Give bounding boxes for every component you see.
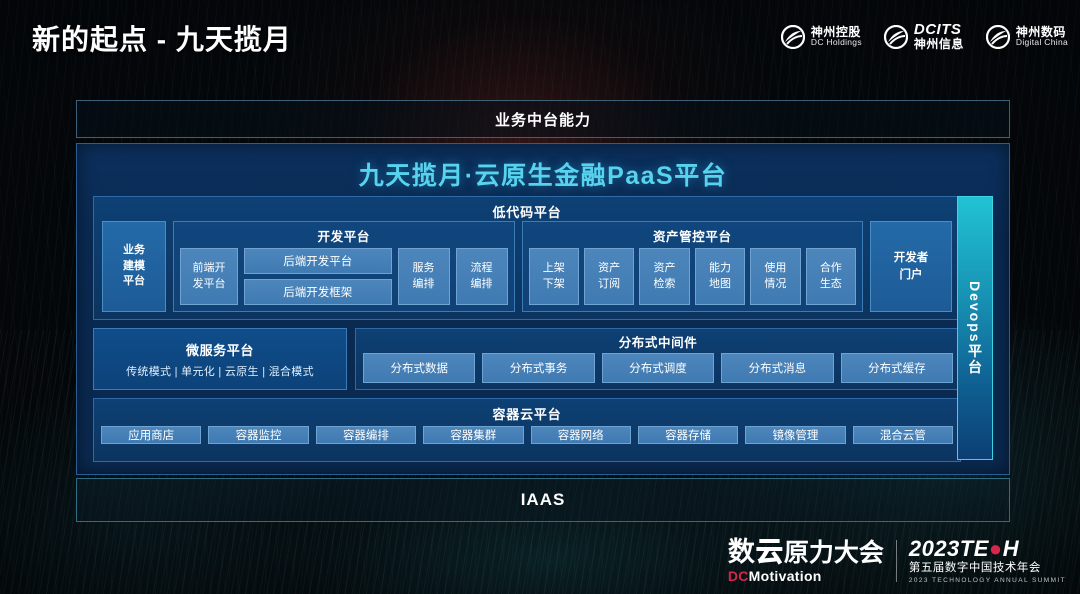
middleware-item-scheduling[interactable]: 分布式调度 <box>602 353 714 383</box>
container-item-monitoring[interactable]: 容器监控 <box>208 426 308 444</box>
event-logo: 数 云 原力大会 DCMotivation 2023TE●H 第五届数字中国技术… <box>728 538 1066 584</box>
dev-platform-header: 开发平台 <box>174 222 514 248</box>
container-item-storage[interactable]: 容器存储 <box>638 426 738 444</box>
backend-dev-platform-box[interactable]: 后端开发平台 <box>244 248 392 274</box>
microservice-middleware-row: 微服务平台 传统模式 | 单元化 | 云原生 | 混合模式 分布式中间件 分布式… <box>93 328 961 390</box>
middleware-item-data[interactable]: 分布式数据 <box>363 353 475 383</box>
platform-layer-stack: 低代码平台 业务建模平台 开发平台 前端开发平台 后端开发平台 后端开发框架 服… <box>93 196 961 470</box>
swoosh-icon <box>884 25 908 49</box>
event-brand: 数 云 原力大会 DCMotivation <box>728 539 884 583</box>
middleware-header: 分布式中间件 <box>356 329 960 353</box>
container-item-orchestration[interactable]: 容器编排 <box>316 426 416 444</box>
middleware-item-transaction[interactable]: 分布式事务 <box>482 353 594 383</box>
asset-platform-group: 资产管控平台 上架下架 资产订阅 资产检索 能力地图 使用情况 合作生态 <box>522 221 864 312</box>
digital-china-logo: 神州数码 Digital China <box>986 25 1068 49</box>
container-item-hybrid-cloud[interactable]: 混合云管 <box>853 426 953 444</box>
event-year: 2023 <box>909 536 960 561</box>
business-modeling-platform-box[interactable]: 业务建模平台 <box>102 221 166 312</box>
event-logo-divider <box>896 540 897 582</box>
dev-platform-group: 开发平台 前端开发平台 后端开发平台 后端开发框架 服务编排 流程编排 <box>173 221 515 312</box>
container-item-image-management[interactable]: 镜像管理 <box>745 426 845 444</box>
iaas-band: IAAS <box>76 478 1010 522</box>
event-tech-word2: H <box>1003 536 1019 561</box>
asset-item-usage[interactable]: 使用情况 <box>750 248 800 305</box>
slide-header: 新的起点 - 九天揽月 神州控股 DC Holdings DCITS 神州信息 <box>0 0 1080 78</box>
event-subtitle-en: 2023 TECHNOLOGY ANNUAL SUMMIT <box>909 578 1066 585</box>
dcits-logo: DCITS 神州信息 <box>884 22 964 51</box>
event-tech-swoosh-icon: ● <box>989 536 1003 561</box>
devops-platform-bar[interactable]: Devops平台 <box>957 196 993 460</box>
microservice-platform-title: 微服务平台 <box>186 340 254 359</box>
asset-item-subscription[interactable]: 资产订阅 <box>584 248 634 305</box>
dcits-name-en: DCITS <box>914 22 964 38</box>
middleware-item-message[interactable]: 分布式消息 <box>721 353 833 383</box>
page-title: 新的起点 - 九天揽月 <box>32 18 292 58</box>
event-brand-cn-1: 数 <box>728 539 754 566</box>
backend-dev-framework-box[interactable]: 后端开发框架 <box>244 279 392 305</box>
developer-portal-box[interactable]: 开发者门户 <box>870 221 952 312</box>
process-orchestration-box[interactable]: 流程编排 <box>456 248 508 305</box>
architecture-diagram: 业务中台能力 九天揽月·云原生金融PaaS平台 低代码平台 业务建模平台 开发平… <box>0 0 1080 594</box>
microservice-platform-modes: 传统模式 | 单元化 | 云原生 | 混合模式 <box>126 363 314 379</box>
swoosh-icon <box>781 25 805 49</box>
dcits-name-cn: 神州信息 <box>914 38 964 51</box>
paas-platform-title: 九天揽月·云原生金融PaaS平台 <box>77 156 1009 192</box>
dc-holdings-name-en: DC Holdings <box>811 38 862 47</box>
microservice-platform-box[interactable]: 微服务平台 传统模式 | 单元化 | 云原生 | 混合模式 <box>93 328 347 390</box>
brand-logo-group: 神州控股 DC Holdings DCITS 神州信息 神州数码 <box>781 22 1068 51</box>
asset-item-search[interactable]: 资产检索 <box>639 248 689 305</box>
digital-china-name-en: Digital China <box>1016 38 1068 47</box>
middleware-item-cache[interactable]: 分布式缓存 <box>841 353 953 383</box>
container-cloud-section: 容器云平台 应用商店 容器监控 容器编排 容器集群 容器网络 容器存储 镜像管理… <box>93 398 961 462</box>
swoosh-icon <box>986 25 1010 49</box>
event-tech-word: TE <box>960 536 989 561</box>
event-subtitle-cn: 第五届数字中国技术年会 <box>909 563 1066 575</box>
capability-band-label: 业务中台能力 <box>495 109 591 130</box>
service-orchestration-box[interactable]: 服务编排 <box>398 248 450 305</box>
container-item-app-store[interactable]: 应用商店 <box>101 426 201 444</box>
event-brand-cn-2: 云 <box>756 539 782 566</box>
event-brand-cn-rest: 原力大会 <box>784 541 884 566</box>
asset-item-listing[interactable]: 上架下架 <box>529 248 579 305</box>
container-cloud-header: 容器云平台 <box>94 399 960 426</box>
middleware-group: 分布式中间件 分布式数据 分布式事务 分布式调度 分布式消息 分布式缓存 <box>355 328 961 390</box>
lowcode-header: 低代码平台 <box>94 197 960 224</box>
frontend-dev-platform-box[interactable]: 前端开发平台 <box>180 248 238 305</box>
asset-item-ecosystem[interactable]: 合作生态 <box>806 248 856 305</box>
devops-platform-label: Devops平台 <box>965 281 985 376</box>
container-item-network[interactable]: 容器网络 <box>531 426 631 444</box>
event-brand-en-rest: Motivation <box>749 568 822 584</box>
dc-holdings-logo: 神州控股 DC Holdings <box>781 25 862 49</box>
capability-band: 业务中台能力 <box>76 100 1010 138</box>
container-item-cluster[interactable]: 容器集群 <box>423 426 523 444</box>
paas-platform-panel: 九天揽月·云原生金融PaaS平台 低代码平台 业务建模平台 开发平台 前端开发平… <box>76 143 1010 475</box>
asset-item-capability-map[interactable]: 能力地图 <box>695 248 745 305</box>
event-brand-en-accent: DC <box>728 568 749 584</box>
asset-platform-header: 资产管控平台 <box>523 222 863 248</box>
iaas-band-label: IAAS <box>521 490 566 510</box>
backend-stack-column: 后端开发平台 后端开发框架 <box>244 248 392 305</box>
event-summit-block: 2023TE●H 第五届数字中国技术年会 2023 TECHNOLOGY ANN… <box>909 538 1066 584</box>
lowcode-section: 低代码平台 业务建模平台 开发平台 前端开发平台 后端开发平台 后端开发框架 服… <box>93 196 961 320</box>
